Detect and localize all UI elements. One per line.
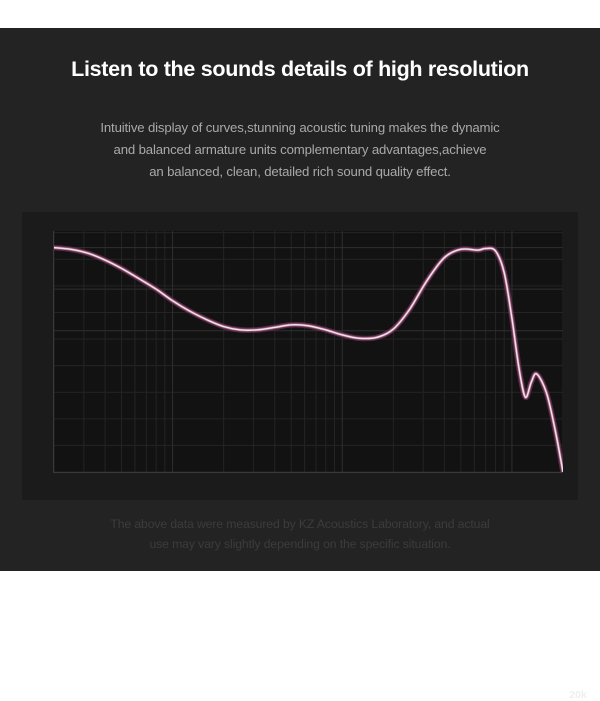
subtitle-line-2: and balanced armature units complementar… [30,139,570,161]
subtitle-line-1: Intuitive display of curves,stunning aco… [30,117,570,139]
x-axis-tick-label-20k: 20k [569,689,587,701]
frequency-response-plot [54,231,563,472]
subtitle-line-3: an balanced, clean, detailed rich sound … [30,161,570,183]
response-curve-glow [54,248,563,472]
frequency-response-chart-panel: 11010510083 204010k 20k [22,212,578,500]
chart-plot-area: 11010510083 204010k [53,231,563,473]
footnote-line-1: The above data were measured by KZ Acous… [40,514,560,534]
footnote-line-2: use may vary slightly depending on the s… [40,534,560,554]
page-subtitle: Intuitive display of curves,stunning aco… [30,117,570,183]
grid-lines-major [54,231,563,472]
response-curve [54,248,563,472]
page-root: Listen to the sounds details of high res… [0,0,600,600]
grid-lines-minor [54,231,563,472]
page-title: Listen to the sounds details of high res… [0,57,600,82]
response-curve-mid [54,248,563,472]
chart-footnote: The above data were measured by KZ Acous… [40,514,560,554]
